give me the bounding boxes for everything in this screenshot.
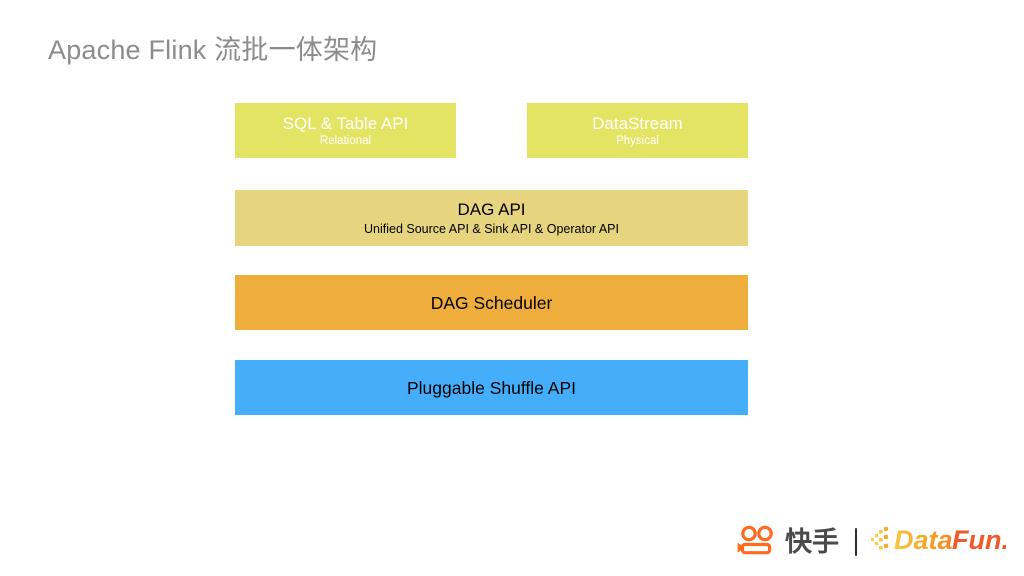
svg-text:Data: Data <box>894 525 953 555</box>
footer-logos: 快手 <box>737 520 1006 564</box>
page-title: Apache Flink 流批一体架构 <box>48 30 377 70</box>
logo-separator <box>855 528 857 556</box>
svg-text:Fun.: Fun. <box>952 525 1006 555</box>
box-datastream-title: DataStream <box>592 113 683 134</box>
row-spacer <box>235 246 748 275</box>
diagram-row-api-layer: SQL & Table API Relational DataStream Ph… <box>235 103 748 158</box>
row-spacer <box>235 158 748 190</box>
box-sql-table-api-subtitle: Relational <box>320 134 371 149</box>
box-datastream-subtitle: Physical <box>616 134 659 149</box>
kuaishou-logo: 快手 <box>737 525 839 560</box>
kuaishou-camera-icon <box>737 525 779 560</box>
box-sql-table-api-title: SQL & Table API <box>283 113 409 134</box>
architecture-diagram: SQL & Table API Relational DataStream Ph… <box>235 103 748 415</box>
datafun-dots-icon <box>871 525 893 560</box>
box-dag-api[interactable]: DAG API Unified Source API & Sink API & … <box>235 190 748 246</box>
box-dag-scheduler[interactable]: DAG Scheduler <box>235 275 748 330</box>
box-dag-api-subtitle: Unified Source API & Sink API & Operator… <box>364 221 619 238</box>
box-sql-table-api[interactable]: SQL & Table API Relational <box>235 103 456 158</box>
datafun-wordmark: Data Fun. <box>894 523 1006 562</box>
row-spacer <box>235 330 748 360</box>
box-dag-scheduler-title: DAG Scheduler <box>431 292 553 314</box>
box-dag-api-title: DAG API <box>457 199 525 221</box>
box-datastream[interactable]: DataStream Physical <box>527 103 748 158</box>
kuaishou-wordmark: 快手 <box>785 527 839 557</box>
box-pluggable-shuffle-api-title: Pluggable Shuffle API <box>407 377 576 399</box>
datafun-logo: Data Fun. <box>871 523 1006 562</box>
box-pluggable-shuffle-api[interactable]: Pluggable Shuffle API <box>235 360 748 415</box>
